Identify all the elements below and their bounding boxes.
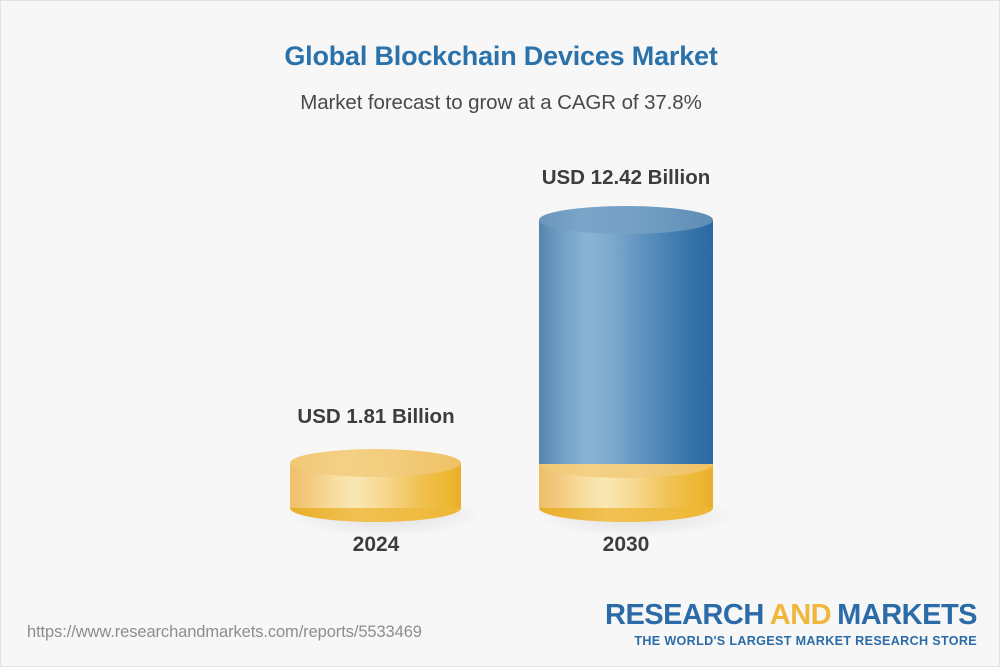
cylinder-bar-2030 xyxy=(539,206,713,522)
bar-category-label-2030: 2030 xyxy=(456,533,796,557)
source-url[interactable]: https://www.researchandmarkets.com/repor… xyxy=(27,623,422,642)
logo-tagline: THE WORLD'S LARGEST MARKET RESEARCH STOR… xyxy=(605,634,977,648)
bar-value-label-2030: USD 12.42 Billion xyxy=(456,166,796,190)
logo-word-and: AND xyxy=(770,599,831,631)
cylinder-top-ellipse-2030 xyxy=(539,206,713,234)
logo-word-research: RESEARCH xyxy=(605,599,764,631)
chart-plot-area: USD 1.81 Billion 2024 USD 12.42 Billion xyxy=(1,1,1000,601)
logo-wordmark: RESEARCHANDMARKETS xyxy=(605,601,977,630)
infographic-canvas: Global Blockchain Devices Market Market … xyxy=(0,0,1000,667)
cylinder-bar-2024 xyxy=(290,449,461,522)
research-and-markets-logo[interactable]: RESEARCHANDMARKETS THE WORLD'S LARGEST M… xyxy=(605,601,977,648)
cylinder-body-2030 xyxy=(539,220,713,464)
cylinder-top-ellipse-2024 xyxy=(290,449,461,477)
logo-word-markets: MARKETS xyxy=(837,599,977,631)
bar-value-label-2024: USD 1.81 Billion xyxy=(206,405,546,429)
